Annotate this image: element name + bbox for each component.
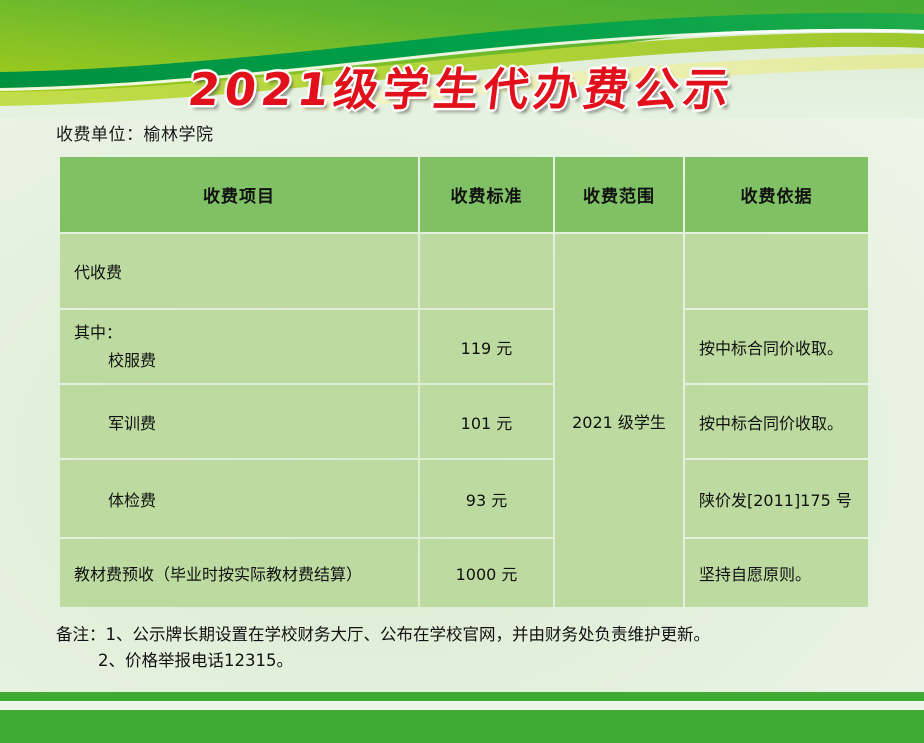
table-header-row: 收费项目 收费标准 收费范围 收费依据 bbox=[60, 157, 868, 232]
cell-basis-0 bbox=[685, 234, 868, 308]
cell-basis-3: 陕价发[2011]175 号 bbox=[685, 460, 868, 537]
cell-item-3: 体检费 bbox=[60, 460, 418, 537]
footer-bar-thin bbox=[0, 692, 924, 701]
note-line-1: 备注：1、公示牌长期设置在学校财务大厅、公布在学校官网，并由财务处负责维护更新。 bbox=[56, 622, 886, 648]
footer-bar-thick bbox=[0, 710, 924, 743]
cell-item-2: 军训费 bbox=[60, 385, 418, 458]
table-row: 教材费预收（毕业时按实际教材费结算） 1000 元 坚持自愿原则。 bbox=[60, 539, 868, 607]
table-row: 代收费 2021 级学生 bbox=[60, 234, 868, 308]
cell-standard-2: 101 元 bbox=[420, 385, 553, 458]
table-header: 收费项目 收费标准 收费范围 收费依据 bbox=[60, 157, 868, 232]
table-row: 体检费 93 元 陕价发[2011]175 号 bbox=[60, 460, 868, 537]
column-header-scope: 收费范围 bbox=[555, 157, 683, 232]
cell-standard-4: 1000 元 bbox=[420, 539, 553, 607]
table-row: 其中： 校服费 119 元 按中标合同价收取。 bbox=[60, 310, 868, 383]
cell-item-4: 教材费预收（毕业时按实际教材费结算） bbox=[60, 539, 418, 607]
cell-standard-1: 119 元 bbox=[420, 310, 553, 383]
poster-canvas: 2021级学生代办费公示 收费单位：榆林学院 收费项目 收费标准 收费范围 收费… bbox=[0, 0, 924, 743]
column-header-basis: 收费依据 bbox=[685, 157, 868, 232]
table-row: 军训费 101 元 按中标合同价收取。 bbox=[60, 385, 868, 458]
cell-basis-4: 坚持自愿原则。 bbox=[685, 539, 868, 607]
cell-basis-2: 按中标合同价收取。 bbox=[685, 385, 868, 458]
cell-basis-1: 按中标合同价收取。 bbox=[685, 310, 868, 383]
cell-standard-3: 93 元 bbox=[420, 460, 553, 537]
note-line-2: 2、价格举报电话12315。 bbox=[56, 648, 886, 674]
column-header-item: 收费项目 bbox=[60, 157, 418, 232]
cell-item-1-line2: 校服费 bbox=[74, 347, 418, 375]
cell-item-1: 其中： 校服费 bbox=[60, 310, 418, 383]
banner-graphic bbox=[0, 0, 924, 118]
header-banner bbox=[0, 0, 924, 118]
charging-unit-label: 收费单位：榆林学院 bbox=[56, 120, 214, 145]
cell-item-1-line1: 其中： bbox=[74, 323, 122, 342]
cell-standard-0 bbox=[420, 234, 553, 308]
fee-table: 收费项目 收费标准 收费范围 收费依据 代收费 2021 级学生 其中： 校服费… bbox=[58, 155, 870, 609]
column-header-standard: 收费标准 bbox=[420, 157, 553, 232]
cell-item-0: 代收费 bbox=[60, 234, 418, 308]
footer-notes: 备注：1、公示牌长期设置在学校财务大厅、公布在学校官网，并由财务处负责维护更新。… bbox=[56, 622, 886, 673]
footer-bar-gap bbox=[0, 701, 924, 710]
table-body: 代收费 2021 级学生 其中： 校服费 119 元 按中标合同价收取。 军训费… bbox=[60, 234, 868, 607]
cell-scope-merged: 2021 级学生 bbox=[555, 234, 683, 607]
